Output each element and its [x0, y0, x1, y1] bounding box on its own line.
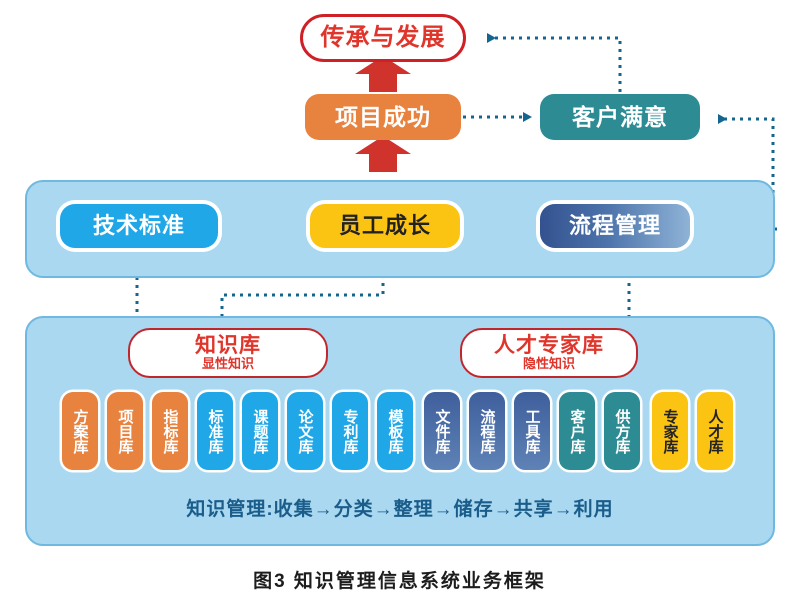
node-heritage-and-development[interactable]: 传承与发展 [300, 14, 466, 62]
connector-customer-to-heritage [487, 38, 620, 92]
database-pill[interactable]: 工具库 [514, 392, 550, 470]
node-customer-satisfaction[interactable]: 客户满意 [540, 94, 700, 140]
node-tacit-knowledge-base[interactable]: 人才专家库 隐性知识 [460, 328, 638, 378]
tacit-knowledge-subtitle: 隐性知识 [523, 357, 575, 371]
diagram-canvas: 传承与发展 项目成功 客户满意 技术标准 员工成长 流程管理 知识库 显性知识 … [0, 0, 799, 610]
database-pill[interactable]: 客户库 [559, 392, 595, 470]
database-pill[interactable]: 项目库 [107, 392, 143, 470]
database-pill[interactable]: 标准库 [197, 392, 233, 470]
database-pill[interactable]: 人才库 [697, 392, 733, 470]
database-pill[interactable]: 课题库 [242, 392, 278, 470]
database-pill[interactable]: 文件库 [424, 392, 460, 470]
knowledge-management-flow: 知识管理:收集→分类→整理→储存→共享→利用 [25, 494, 775, 521]
red-block-arrow-to-project-success [355, 136, 411, 172]
node-process-management[interactable]: 流程管理 [540, 204, 690, 248]
database-pill[interactable]: 指标库 [152, 392, 188, 470]
database-pill[interactable]: 专利库 [332, 392, 368, 470]
database-pill[interactable]: 流程库 [469, 392, 505, 470]
node-explicit-knowledge-base[interactable]: 知识库 显性知识 [128, 328, 328, 378]
database-pill[interactable]: 模板库 [377, 392, 413, 470]
explicit-knowledge-title: 知识库 [195, 335, 261, 356]
database-pill[interactable]: 方案库 [62, 392, 98, 470]
tacit-knowledge-title: 人才专家库 [494, 335, 604, 356]
explicit-knowledge-subtitle: 显性知识 [202, 357, 254, 371]
node-project-success[interactable]: 项目成功 [305, 94, 461, 140]
database-pill[interactable]: 供方库 [604, 392, 640, 470]
node-staff-growth[interactable]: 员工成长 [310, 204, 460, 248]
database-pill[interactable]: 专家库 [652, 392, 688, 470]
figure-caption: 图3 知识管理信息系统业务框架 [0, 566, 799, 593]
database-pill[interactable]: 论文库 [287, 392, 323, 470]
node-technical-standard[interactable]: 技术标准 [60, 204, 218, 248]
